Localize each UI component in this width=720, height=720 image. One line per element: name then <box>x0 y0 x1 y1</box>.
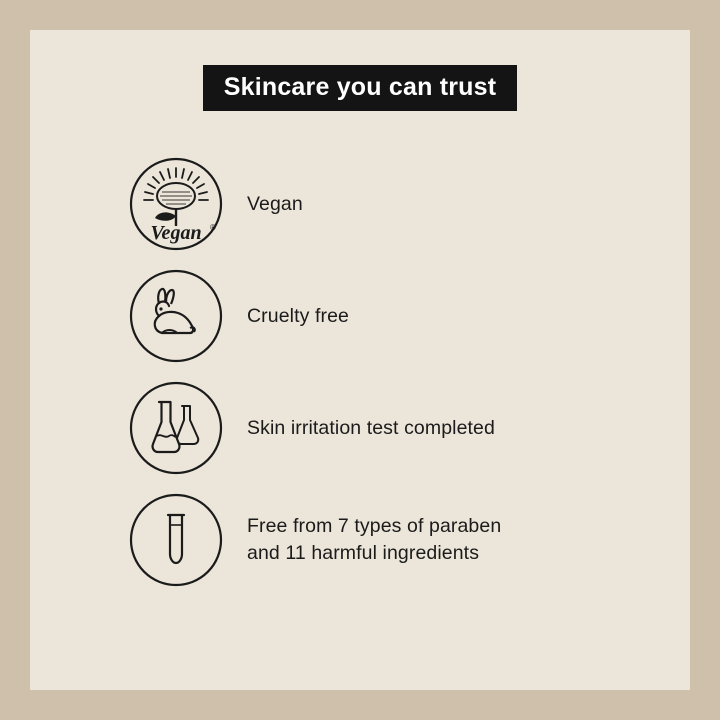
claim-label-vegan: Vegan <box>247 191 303 218</box>
claim-label-free-from: Free from 7 types of paraben and 11 harm… <box>247 513 501 567</box>
vegan-wordmark: Vegan <box>150 222 201 244</box>
claim-row-free-from: Free from 7 types of paraben and 11 harm… <box>30 484 690 596</box>
product-claims-graphic: Skincare you can trust <box>0 0 720 720</box>
flasks-icon <box>127 379 225 477</box>
claim-row-vegan: Vegan ® Vegan <box>30 148 690 260</box>
page-title: Skincare you can trust <box>203 65 518 111</box>
claim-row-cruelty-free: Cruelty free <box>30 260 690 372</box>
content-panel: Skincare you can trust <box>30 30 690 690</box>
title-container: Skincare you can trust <box>30 65 690 111</box>
claim-label-cruelty-free: Cruelty free <box>247 303 349 330</box>
registered-mark: ® <box>210 223 216 232</box>
claim-label-irritation-test: Skin irritation test completed <box>247 415 495 442</box>
vegan-sunflower-icon: Vegan ® <box>127 155 225 253</box>
claims-list: Vegan ® Vegan <box>30 148 690 596</box>
test-tube-icon <box>127 491 225 589</box>
rabbit-icon <box>127 267 225 365</box>
claim-row-irritation-test: Skin irritation test completed <box>30 372 690 484</box>
